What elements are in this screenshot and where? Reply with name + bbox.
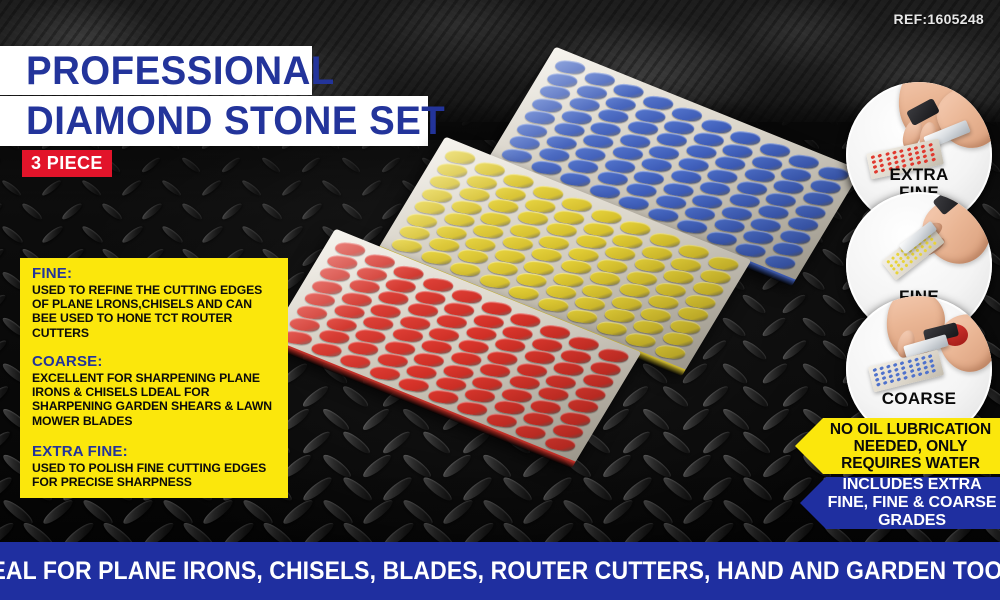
footer-text: IDEAL FOR PLANE IRONS, CHISELS, BLADES, … [0, 559, 1000, 584]
callout-includes-grades: INCLUDES EXTRA FINE, FINE & COARSE GRADE… [800, 477, 1000, 529]
feature-block-fine: FINE: USED TO REFINE THE CUTTING EDGES O… [20, 258, 288, 349]
callout-no-oil: NO OIL LUBRICATION NEEDED, ONLY REQUIRES… [795, 418, 1000, 474]
feature-body-coarse: EXCELLENT FOR SHARPENING PLANE IRONS & C… [32, 371, 278, 428]
feature-heading-fine: FINE: [32, 266, 278, 282]
circle-label-extra-fine-line1: EXTRA [846, 166, 992, 183]
title-line-2: DIAMOND STONE SET [0, 96, 428, 146]
reference-number: REF:1605248 [894, 11, 984, 27]
feature-block-extra-fine: EXTRA FINE: USED TO POLISH FINE CUTTING … [20, 436, 288, 498]
feature-heading-extra-fine: EXTRA FINE: [32, 444, 278, 460]
piece-count-badge: 3 PIECE [22, 150, 112, 177]
circle-label-coarse: COARSE [846, 390, 992, 407]
title-line-2-text: DIAMOND STONE SET [26, 101, 445, 141]
feature-heading-coarse: COARSE: [32, 354, 278, 370]
product-banner: REF:1605248 PROFESSIONAL DIAMOND STONE S… [0, 0, 1000, 600]
title-line-1: PROFESSIONAL [0, 46, 312, 95]
footer-banner: IDEAL FOR PLANE IRONS, CHISELS, BLADES, … [0, 542, 1000, 600]
feature-body-extra-fine: USED TO POLISH FINE CUTTING EDGES FOR PR… [32, 461, 278, 489]
feature-body-fine: USED TO REFINE THE CUTTING EDGES OF PLAN… [32, 283, 278, 340]
feature-block-coarse: COARSE: EXCELLENT FOR SHARPENING PLANE I… [20, 346, 288, 437]
title-line-1-text: PROFESSIONAL [26, 51, 335, 91]
